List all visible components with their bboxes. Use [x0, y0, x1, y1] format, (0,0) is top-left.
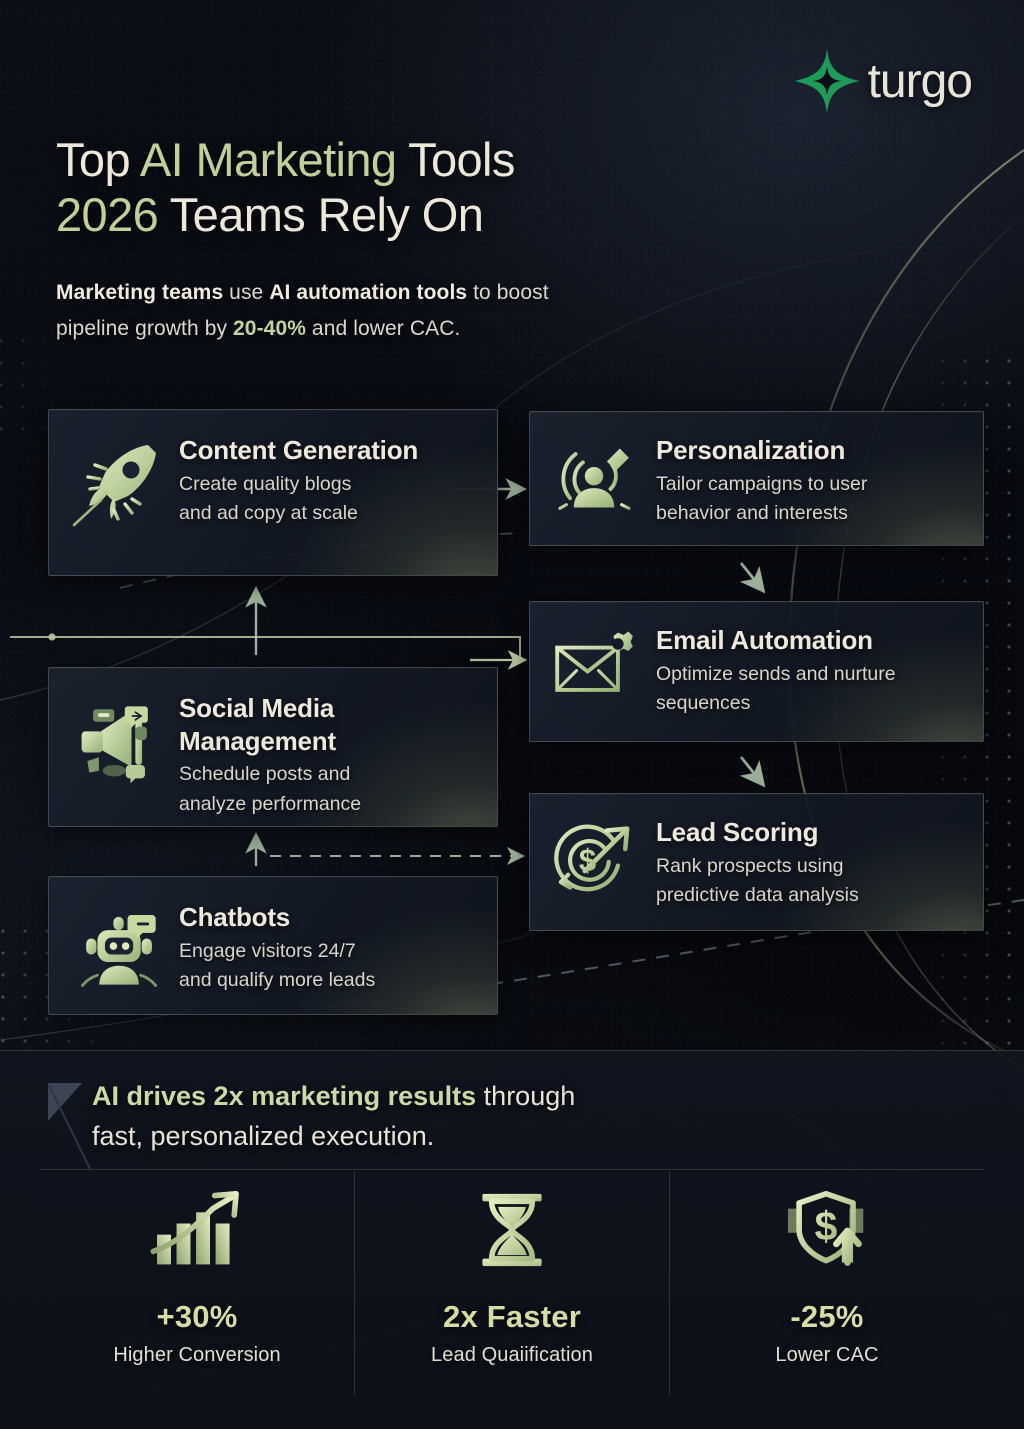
card-desc-line-1: Schedule posts and	[179, 760, 479, 790]
card-chatbots[interactable]: Chatbots Engage visitors 24/7 and qualif…	[48, 876, 498, 1015]
rocket-icon	[67, 428, 173, 534]
card-title: Email Automation	[656, 624, 896, 657]
stat-lower-cac[interactable]: $ -25% Lower CAC	[669, 1171, 984, 1396]
card-description: Tailor campaigns to user behavior and in…	[656, 470, 867, 529]
card-lead-scoring[interactable]: $ Lead Scoring Rank prospects using pred…	[529, 793, 984, 931]
card-title: Chatbots	[179, 901, 375, 934]
footer-divider	[40, 1169, 984, 1170]
stat-value: 2x Faster	[443, 1299, 581, 1335]
stat-higher-conversion[interactable]: +30% Higher Conversion	[40, 1171, 354, 1396]
bar-chart-arrow-up-icon	[145, 1187, 249, 1273]
robot-icon	[67, 897, 173, 997]
megaphone-icon	[67, 688, 173, 792]
card-description: Create quality blogs and ad copy at scal…	[179, 470, 418, 529]
envelope-gear-icon	[544, 620, 644, 712]
title-highlight-1: AI Marketing	[140, 133, 397, 186]
stats-row: +30% Higher Conversion	[40, 1171, 984, 1396]
card-desc-line-1: Tailor campaigns to user	[656, 470, 867, 500]
card-description: Rank prospects using predictive data ana…	[656, 852, 859, 911]
stat-value: -25%	[790, 1299, 863, 1335]
card-title: Lead Scoring	[656, 816, 859, 849]
subtitle-line-1: Marketing teams use AI automation tools …	[56, 275, 549, 311]
arrow-social-to-email-path	[10, 637, 520, 660]
stat-label: Lead Quaiification	[431, 1344, 593, 1367]
subtitle-bold-2: AI automation tools	[269, 281, 467, 304]
page-subtitle: Marketing teams use AI automation tools …	[56, 275, 549, 347]
arrow-personalization-to-email	[741, 563, 761, 588]
card-desc-line-2: and ad copy at scale	[179, 499, 418, 529]
subtitle-bold-1: Marketing teams	[56, 281, 223, 304]
svg-text:$: $	[579, 843, 596, 878]
card-desc-line-1: Optimize sends and nurture	[656, 660, 896, 690]
connector-dot	[48, 633, 55, 640]
stat-lead-qualification[interactable]: 2x Faster Lead Quaiification	[354, 1171, 669, 1396]
card-desc-line-1: Create quality blogs	[179, 470, 418, 500]
card-title: Personalization	[656, 434, 867, 467]
subtitle-text-3: pipeline growth by	[56, 317, 233, 340]
brand-logo[interactable]: turgo	[790, 44, 972, 118]
card-desc-line-2: behavior and interests	[656, 499, 867, 529]
card-description: Schedule posts and analyze performance	[179, 760, 479, 819]
stat-value: +30%	[157, 1299, 238, 1335]
card-description: Engage visitors 24/7 and qualify more le…	[179, 937, 375, 996]
shield-dollar-arrow-icon: $	[779, 1187, 875, 1273]
page-title: Top AI Marketing Tools 2026 Teams Rely O…	[56, 133, 515, 243]
card-title: Social Media Management	[179, 692, 479, 757]
infographic-poster: turgo Top AI Marketing Tools 2026 Teams …	[0, 0, 1024, 1429]
card-description: Optimize sends and nurture sequences	[656, 660, 896, 719]
card-personalization[interactable]: Personalization Tailor campaigns to user…	[529, 411, 984, 546]
subtitle-text-2: to boost	[467, 281, 548, 304]
card-desc-line-2: analyze performance	[179, 790, 479, 820]
quote-accent-icon	[46, 1073, 102, 1183]
footer-band: AI drives 2x marketing results through f…	[0, 1050, 1024, 1429]
footer-quote-bold: AI drives 2x marketing results	[92, 1081, 476, 1111]
arrow-email-to-lead	[741, 757, 761, 782]
footer-quote: AI drives 2x marketing results through f…	[92, 1077, 832, 1157]
card-title: Content Generation	[179, 434, 418, 467]
card-desc-line-2: sequences	[656, 689, 896, 719]
title-part-3: Teams Rely On	[158, 188, 483, 241]
card-desc-line-2: and qualify more leads	[179, 966, 375, 996]
card-social-media-management[interactable]: Social Media Management Schedule posts a…	[48, 667, 498, 827]
card-email-automation[interactable]: Email Automation Optimize sends and nurt…	[529, 601, 984, 742]
dollar-cycle-arrow-icon: $	[544, 812, 644, 908]
subtitle-highlight: 20-40%	[233, 317, 306, 340]
title-part-1: Top	[56, 133, 140, 186]
card-title-text: Social Media Management	[179, 693, 336, 756]
subtitle-text-1: use	[223, 281, 269, 304]
subtitle-text-4: and lower CAC.	[306, 317, 460, 340]
card-desc-line-1: Rank prospects using	[656, 852, 859, 882]
card-desc-line-2: predictive data analysis	[656, 881, 859, 911]
card-content-generation[interactable]: Content Generation Create quality blogs …	[48, 409, 498, 576]
title-part-2: Tools	[396, 133, 514, 186]
footer-quote-line-1: AI drives 2x marketing results through	[92, 1077, 832, 1117]
card-desc-line-1: Engage visitors 24/7	[179, 937, 375, 967]
title-line-2: 2026 Teams Rely On	[56, 188, 515, 243]
title-line-1: Top AI Marketing Tools	[56, 133, 515, 188]
title-highlight-2: 2026	[56, 188, 158, 241]
brand-name: turgo	[868, 54, 972, 109]
four-point-star-icon	[790, 44, 864, 118]
hourglass-icon	[475, 1187, 549, 1273]
stat-label: Higher Conversion	[113, 1344, 280, 1367]
footer-quote-rest: through	[476, 1081, 575, 1111]
target-person-icon	[544, 430, 644, 526]
subtitle-line-2: pipeline growth by 20-40% and lower CAC.	[56, 311, 549, 347]
stat-label: Lower CAC	[775, 1344, 878, 1367]
footer-quote-line-2: fast, personalized execution.	[92, 1117, 832, 1157]
